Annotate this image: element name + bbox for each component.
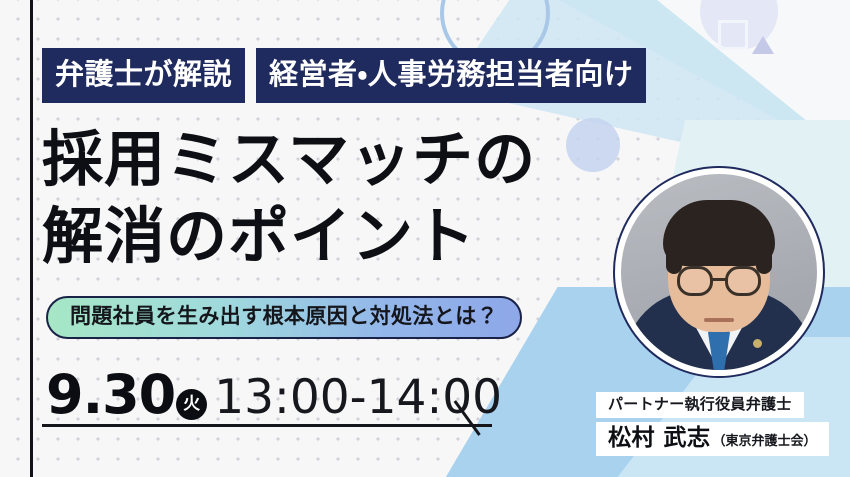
speaker-name: 松村 武志 [608,426,711,450]
photo-glasses-left [677,266,713,296]
photo-mouth [704,318,734,322]
date-underline [42,424,492,427]
speaker-photo [621,174,817,370]
title-line-2: 解消のポイント [42,199,536,276]
title-line-1: 採用ミスマッチの [42,122,536,199]
photo-glasses-bridge [711,278,727,281]
photo-hair-right [756,226,772,274]
schedule-line: 9.30 火 13:00-14:00 [46,368,502,424]
photo-glasses-right [725,266,761,296]
speaker-bar-association: （東京弁護士会） [713,435,817,448]
speaker-role: パートナー執行役員弁護士 [596,392,804,418]
badge-lawyer-explains: 弁護士が解説 [42,48,245,103]
photo-hair-left [666,226,682,274]
photo-lapel-pin [753,339,762,348]
event-time: 13:00-14:00 [214,374,502,421]
subtitle-pill: 問題社員を生み出す根本原因と対処法とは？ [46,296,522,339]
page-title: 採用ミスマッチの 解消のポイント [42,122,536,276]
badge-row: 弁護士が解説 経営者・人事労務担当者向け [42,48,646,103]
badge-target-audience: 経営者・人事労務担当者向け [256,48,646,103]
speaker-name-row: 松村 武志 （東京弁護士会） [596,422,829,456]
day-of-week-badge: 火 [176,389,207,420]
webinar-banner: 弁護士が解説 経営者・人事労務担当者向け 採用ミスマッチの 解消のポイント 問題… [0,0,850,477]
speaker-credentials: パートナー執行役員弁護士 松村 武志 （東京弁護士会） [596,392,829,456]
event-date: 9.30 [46,368,175,422]
speaker-avatar [613,166,825,378]
